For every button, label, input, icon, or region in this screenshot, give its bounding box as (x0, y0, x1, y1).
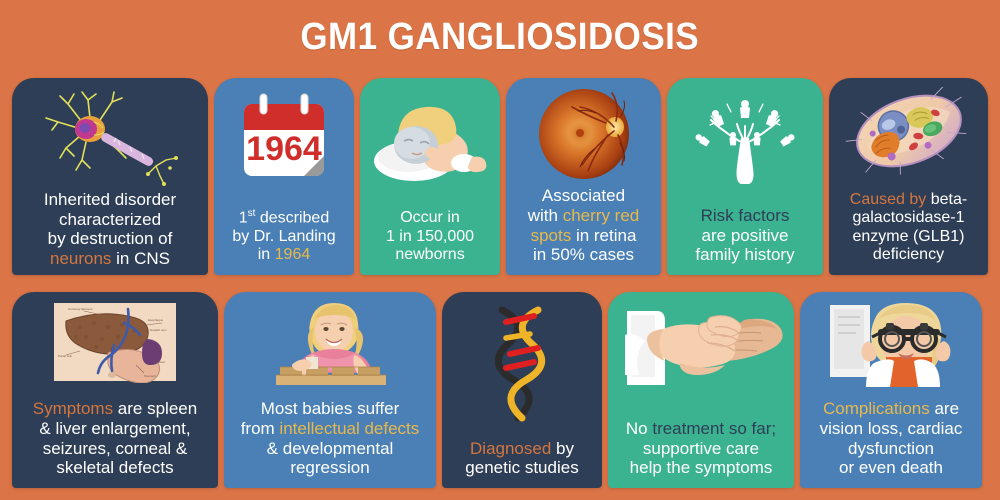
text-run: described (255, 209, 329, 226)
text-run: with (528, 206, 563, 225)
card-text-line: with cherry red (512, 206, 655, 226)
text-run: & developmental (267, 439, 394, 458)
card-symptoms[interactable]: Coronary ligament Esophagus Hepatic vein… (12, 292, 218, 488)
card-text: No treatment so far;supportive carehelp … (614, 419, 788, 480)
card-text-line: deficiency (835, 246, 982, 265)
card-text-line: supportive care (614, 439, 788, 459)
card-figure (673, 86, 817, 190)
text-run-highlight: 1964 (275, 246, 311, 263)
text-run: supportive care (643, 439, 759, 458)
text-run: are spleen (113, 399, 197, 418)
card-text-line: vision loss, cardiac (806, 419, 976, 439)
card-figure: 1964 (220, 86, 348, 190)
svg-text:Portal vein: Portal vein (58, 354, 73, 358)
text-run-highlight: intellectual defects (279, 419, 419, 438)
text-run: by Dr. Landing (232, 228, 335, 245)
card-text-line: Caused by beta- (835, 191, 982, 210)
text-run: dysfunction (848, 439, 934, 458)
card-text-line: Occur in (366, 209, 494, 228)
text-run: & liver enlargement, (39, 419, 190, 438)
card-text-line: Diagnosed by (448, 439, 596, 459)
text-run: or even death (839, 458, 943, 477)
card-text-line: & developmental (230, 439, 430, 459)
sleeping-baby-icon (368, 91, 492, 185)
text-run: seizures, corneal & (43, 439, 188, 458)
text-run: Occur in (400, 209, 460, 226)
card-text: Occur in1 in 150,000newborns (366, 209, 494, 267)
text-run: characterized (59, 210, 161, 229)
svg-text:Spleen: Spleen (156, 360, 166, 364)
card-text-line: by Dr. Landing (220, 228, 348, 247)
eye-exam-trial-frame-photo (816, 301, 966, 389)
card-text-line: dysfunction (806, 439, 976, 459)
svg-text:1964: 1964 (246, 130, 322, 168)
text-run-highlight: treatment so far; (652, 419, 776, 438)
liver-spleen-anatomy-icon: Coronary ligament Esophagus Hepatic vein… (50, 301, 180, 383)
card-text-line: or even death (806, 458, 976, 478)
text-run-highlight: Complications (823, 399, 930, 418)
text-run: by (551, 439, 574, 458)
text-run-highlight: spots (531, 226, 572, 245)
page-title: GM1 GANGLIOSIDOSIS (301, 16, 700, 59)
card-text: Caused by beta-galactosidase-1enzyme (GL… (835, 191, 982, 267)
text-run: from (241, 419, 280, 438)
retina-fundus-icon (536, 87, 632, 181)
svg-text:Coronary ligament: Coronary ligament (68, 307, 93, 311)
text-run: vision loss, cardiac (820, 419, 963, 438)
svg-text:Esophagus: Esophagus (148, 318, 164, 322)
card-text: Diagnosed bygenetic studies (448, 439, 596, 480)
text-run: genetic studies (465, 458, 578, 477)
card-text-line: Symptoms are spleen (18, 399, 212, 419)
text-run: deficiency (873, 246, 944, 263)
card-text-line: newborns (366, 246, 494, 265)
text-run-highlight: Symptoms (33, 399, 113, 418)
card-text-line: Risk factors (673, 206, 817, 226)
text-run: beta- (926, 191, 967, 208)
text-run: Associated (542, 186, 625, 205)
dna-helix-icon (476, 302, 568, 426)
card-text: Associatedwith cherry redspots in retina… (512, 186, 655, 267)
card-cause-enzyme[interactable]: Caused by beta-galactosidase-1enzyme (GL… (829, 78, 988, 275)
text-run: skeletal defects (56, 458, 173, 477)
text-run: No (626, 419, 652, 438)
card-complications[interactable]: Complications arevision loss, cardiacdys… (800, 292, 982, 488)
text-run: Most babies suffer (261, 399, 400, 418)
card-intellectual-defects[interactable]: Most babies sufferfrom intellectual defe… (224, 292, 436, 488)
card-text-line: Associated (512, 186, 655, 206)
card-text-line: from intellectual defects (230, 419, 430, 439)
card-figure (230, 300, 430, 392)
card-text-line: Most babies suffer (230, 399, 430, 419)
svg-text:Hepatic vein: Hepatic vein (150, 328, 167, 332)
card-text-line: in 50% cases (512, 245, 655, 265)
neuron-icon (30, 88, 190, 188)
text-run: enzyme (GLB1) (852, 228, 964, 245)
card-inherited-disorder[interactable]: Inherited disordercharacterizedby destru… (12, 78, 208, 275)
text-run: are positive (702, 226, 789, 245)
infographic-root: GM1 GANGLIOSIDOSIS (0, 0, 1000, 500)
card-text: Most babies sufferfrom intellectual defe… (230, 399, 430, 480)
card-text-line: seizures, corneal & (18, 439, 212, 459)
card-text: 1st describedby Dr. Landingin 1964 (220, 208, 348, 267)
title-bar: GM1 GANGLIOSIDOSIS (0, 0, 1000, 74)
card-row-2: Coronary ligament Esophagus Hepatic vein… (0, 292, 1000, 488)
text-run: by destruction of (48, 229, 173, 248)
card-diagnosis[interactable]: Diagnosed bygenetic studies (442, 292, 602, 488)
card-treatment[interactable]: No treatment so far;supportive carehelp … (608, 292, 794, 488)
card-text-line: 1st described (220, 208, 348, 228)
card-first-described[interactable]: 1964 1st describedby Dr. Landingin 1964 (214, 78, 354, 275)
text-run-highlight: neurons (50, 249, 111, 268)
card-figure: Coronary ligament Esophagus Hepatic vein… (18, 300, 212, 384)
card-text-line: characterized (18, 210, 202, 230)
card-text: Complications arevision loss, cardiacdys… (806, 399, 976, 480)
card-text-line: neurons in CNS (18, 249, 202, 269)
card-text-line: galactosidase-1 (835, 209, 982, 228)
card-figure (366, 86, 494, 190)
text-run: in CNS (111, 249, 170, 268)
card-text-line: genetic studies (448, 458, 596, 478)
card-figure (835, 86, 982, 176)
card-incidence[interactable]: Occur in1 in 150,000newborns (360, 78, 500, 275)
card-text-line: regression (230, 458, 430, 478)
calendar-1964-icon: 1964 (234, 90, 334, 186)
text-run: galactosidase-1 (852, 209, 964, 226)
text-run: regression (290, 458, 369, 477)
card-figure (614, 300, 788, 396)
card-text-line: & liver enlargement, (18, 419, 212, 439)
card-text: Inherited disordercharacterizedby destru… (18, 190, 202, 271)
card-text-line: Inherited disorder (18, 190, 202, 210)
card-row-1: Inherited disordercharacterizedby destru… (0, 78, 1000, 275)
text-run: family history (695, 245, 794, 264)
card-text-line: spots in retina (512, 226, 655, 246)
text-run-highlight: cherry red (563, 206, 640, 225)
card-figure (512, 86, 655, 182)
text-run: Inherited disorder (44, 190, 176, 209)
holding-hands-photo (619, 301, 783, 395)
card-figure (448, 300, 596, 428)
card-text-line: are positive (673, 226, 817, 246)
card-text-line: Complications are (806, 399, 976, 419)
text-run: 1 in 150,000 (386, 228, 474, 245)
svg-text:Stomach: Stomach (144, 374, 156, 378)
card-text: Risk factorsare positivefamily history (673, 206, 817, 267)
card-cherry-red-spot[interactable]: Associatedwith cherry redspots in retina… (506, 78, 661, 275)
text-run-highlight: Caused by (850, 191, 927, 208)
card-text-line: enzyme (GLB1) (835, 228, 982, 247)
card-figure (806, 300, 976, 390)
card-text-line: help the symptoms (614, 458, 788, 478)
card-text-line: skeletal defects (18, 458, 212, 478)
text-run-highlight: Diagnosed (470, 439, 551, 458)
text-run: in (258, 246, 275, 263)
text-run: in 50% cases (533, 245, 634, 264)
text-run: 1 (239, 209, 248, 226)
text-run: in retina (571, 226, 636, 245)
child-with-blocks-photo (250, 301, 410, 391)
text-run-highlight: Risk factors (701, 206, 790, 225)
card-text-line: No treatment so far; (614, 419, 788, 439)
card-text-line: in 1964 (220, 246, 348, 265)
animal-cell-icon (844, 87, 974, 175)
card-figure (18, 86, 202, 190)
card-text-line: 1 in 150,000 (366, 228, 494, 247)
card-risk-factors[interactable]: Risk factorsare positivefamily history (667, 78, 823, 275)
card-text-line: by destruction of (18, 229, 202, 249)
text-run: help the symptoms (630, 458, 773, 477)
text-run: are (930, 399, 959, 418)
family-tree-icon (691, 88, 799, 188)
card-text: Symptoms are spleen& liver enlargement,s… (18, 399, 212, 480)
card-text-line: family history (673, 245, 817, 265)
text-run: newborns (395, 246, 464, 263)
